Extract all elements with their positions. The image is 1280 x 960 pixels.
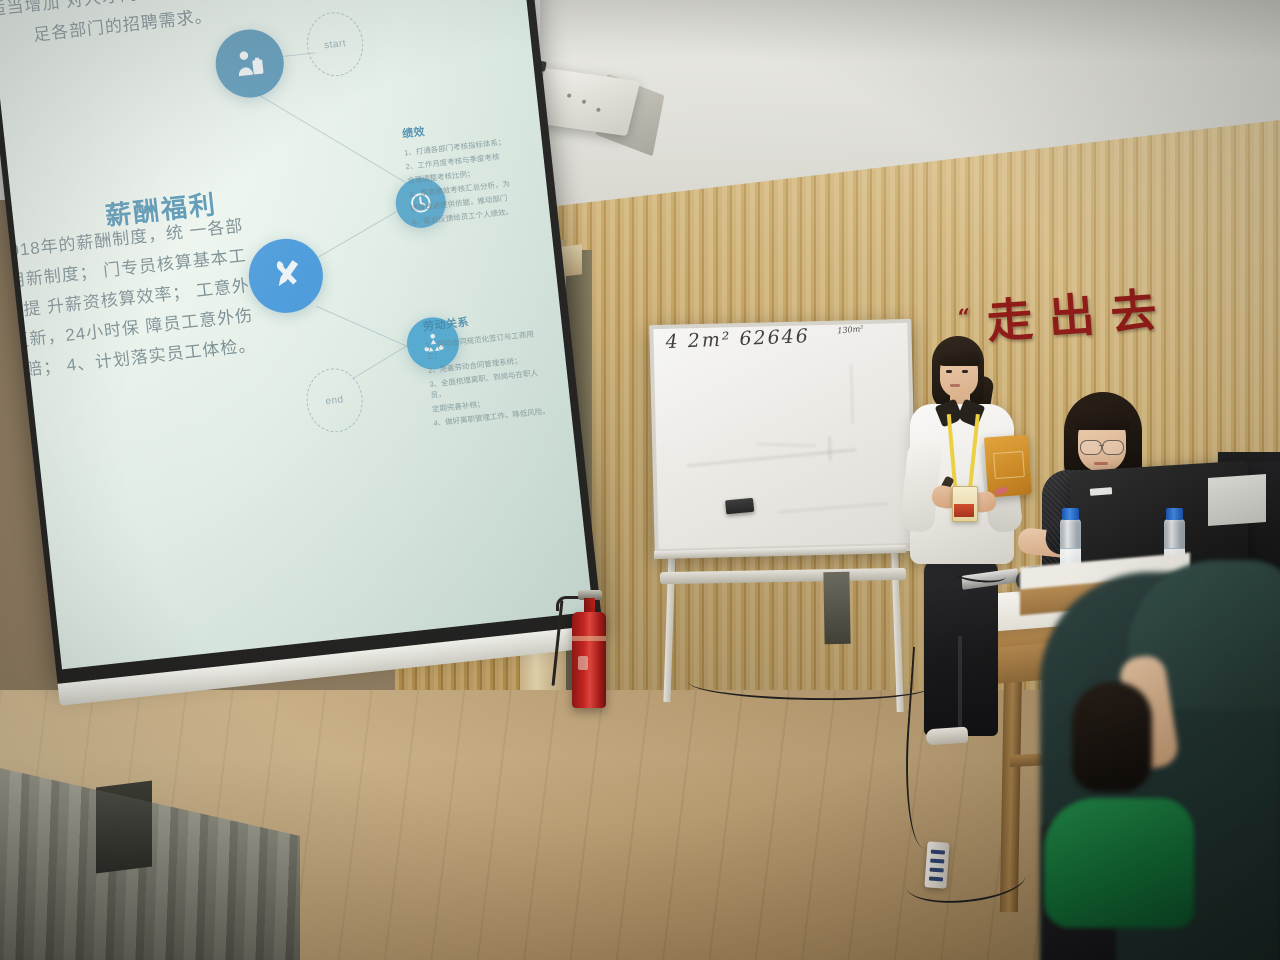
ceiling-shadow (540, 0, 1280, 60)
foreground-attendee (1020, 560, 1280, 960)
presenter-id-badge-accent (954, 504, 974, 517)
slide-block-performance-line-3: 合理调整考核比例； (407, 162, 527, 186)
slide-block-labor-relations-line-4: 定期完善补档； (432, 391, 552, 415)
slide-block-performance-line-6: 4、最后反馈给员工个人绩效。 (411, 204, 531, 228)
whiteboard-smudge-3 (828, 437, 832, 461)
slide-block-labor-relations: 劳动关系 1、劳动合同规范化签订与工商用工； 2、完善劳动合同管理系统； 3、全… (422, 305, 554, 431)
whiteboard-strap (823, 572, 850, 644)
green-bag (1044, 798, 1194, 928)
water-bottle-left-cap (1062, 508, 1079, 520)
slide-block-performance-line-2: 2、工作月度考核与季度考核 (405, 148, 525, 172)
calligraphy-quote-mark: “ (957, 306, 971, 329)
presenter-leg-seam (958, 636, 962, 736)
whiteboard: 4 2m² 62646 130m² (649, 319, 917, 557)
performance-icon (393, 175, 448, 230)
projection-screen: 量，适当增加 对人才网的投入； 足各部门的招聘需求。 薪酬福利 新2018年的薪… (0, 0, 624, 773)
fire-extinguisher-band (572, 636, 606, 641)
slide-block-performance-line-1: 1、打通各部门考核指标体系； (404, 134, 524, 158)
photo-scene: “ 走 出 去 量，适当增加 对人才网的投入； 足各部门的招聘需求。 薪酬福利 … (0, 0, 1280, 960)
slide-title: 薪酬福利 (103, 184, 218, 233)
start-node-label: start (324, 38, 347, 51)
slide-block-labor-relations-line-3: 3、全面梳理离职、到岗与在职人员， (429, 366, 551, 401)
whiteboard-eraser (725, 498, 754, 515)
connector-node1-node2 (259, 95, 410, 185)
power-strip (924, 841, 949, 888)
power-strip-socket-4 (929, 876, 943, 881)
connector-node3-node4 (316, 306, 408, 347)
whiteboard-smudge-4 (778, 503, 888, 513)
speaker-dot-1 (567, 93, 572, 97)
presenter-fringe (938, 348, 980, 366)
slide-block-labor-relations-line-1: 1、劳动合同规范化签订与工商用工； (425, 327, 547, 362)
whiteboard-surface (653, 323, 912, 549)
fire-extinguisher-label (578, 656, 588, 670)
screen-surface: 量，适当增加 对人才网的投入； 足各部门的招聘需求。 薪酬福利 新2018年的薪… (0, 0, 593, 669)
tools-icon (245, 235, 327, 317)
presenter-eye-left (946, 370, 952, 373)
slide-block-labor-relations-line-2: 2、完善劳动合同管理系统； (427, 352, 547, 376)
whiteboard-smudge-2 (756, 443, 816, 447)
end-node-label: end (325, 394, 344, 407)
foreground-attendee-hair (1072, 682, 1152, 792)
speaker-dot-3 (596, 108, 601, 112)
seated-attendee-glasses-left (1080, 440, 1102, 455)
laptop-sticker (1208, 474, 1266, 526)
power-strip-socket-1 (931, 850, 945, 855)
slide-block-performance-line-4: 3、季度绩效考核汇总分析，为 (408, 176, 528, 200)
slide-paragraph-left: 新2018年的薪酬制度，统 一各部门使用新制度； 门专员核算基本工资，提 升薪资… (0, 211, 258, 390)
start-node: start (304, 9, 367, 79)
slide-content: 量，适当增加 对人才网的投入； 足各部门的招聘需求。 薪酬福利 新2018年的薪… (0, 0, 593, 669)
water-bottle-right-cap (1166, 508, 1183, 520)
seated-attendee-glasses-right (1102, 440, 1124, 455)
presenter-notebook-emblem (993, 451, 1025, 479)
labor-relations-icon (404, 315, 461, 372)
presenter-eye-right (962, 370, 968, 373)
end-node: end (303, 365, 366, 435)
presenter-mouth (950, 384, 960, 387)
seated-attendee-fringe (1074, 408, 1130, 430)
slide-block-performance-line-5: 绩效改进提供依据，推动部门 (410, 190, 530, 214)
whiteboard-smudge-5 (850, 364, 853, 424)
calligraphy-char-2: 出 (1047, 291, 1096, 340)
slide-block-labor-relations-line-5: 4、做好离职管理工作，降低风险。 (433, 405, 553, 429)
power-strip-socket-3 (930, 868, 944, 873)
seated-attendee-mouth (1094, 462, 1108, 465)
slide-block-labor-relations-heading: 劳动关系 (422, 305, 543, 334)
calligraphy-char-3: 去 (1109, 287, 1158, 336)
power-strip-socket-2 (930, 859, 944, 864)
seated-attendee-glasses-bridge (1099, 445, 1104, 446)
connector-end (352, 344, 409, 379)
slide-block-performance: 绩效 1、打通各部门考核指标体系； 2、工作月度考核与季度考核 合理调整考核比例… (401, 113, 532, 231)
slide-block-performance-heading: 绩效 (401, 113, 522, 142)
connector-start (281, 52, 315, 57)
connector-node3-node2 (317, 211, 397, 258)
speaker-dot-2 (582, 99, 587, 103)
recruiting-icon (212, 26, 287, 101)
slide-paragraph-top: 量，适当增加 对人才网的投入； 足各部门的招聘需求。 (0, 0, 214, 59)
